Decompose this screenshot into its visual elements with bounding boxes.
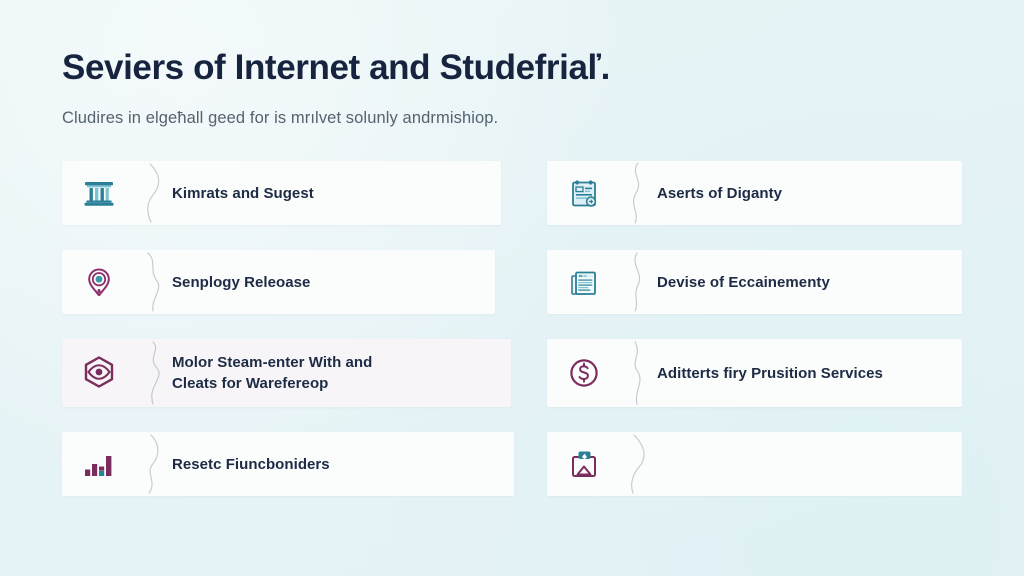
service-card-label-line: Devise of Eccainementy (657, 272, 830, 293)
service-card-label-line: Kimrats and Sugest (172, 183, 314, 204)
service-card-label-line: Senplogy Releoase (172, 272, 310, 293)
service-card-label-line: Aditterts firy Prusition Services (657, 363, 883, 384)
squiggle-divider-icon (136, 161, 172, 225)
service-card-label: Aditterts firy Prusition Services (657, 363, 899, 384)
squiggle-divider-icon (621, 161, 657, 225)
page-subtitle: Cludires in elgeħall geed for is mrılvet… (62, 109, 962, 128)
service-card-label-line: Molor Steam-enter With and (172, 352, 372, 373)
bank-building-icon (62, 161, 136, 225)
service-card-label: Molor Steam-enter With and Cleats for Wa… (172, 352, 388, 395)
service-card-aserts-of-diganty[interactable]: Aserts of Diganty (547, 161, 962, 225)
service-card-label: Senplogy Releoase (172, 272, 326, 293)
squiggle-divider-icon (136, 250, 172, 314)
service-card-aditterts-firy-prusition-services[interactable]: Aditterts firy Prusition Services (547, 339, 962, 407)
service-card-devise-of-eccainementy[interactable]: Devise of Eccainementy (547, 250, 962, 314)
location-pin-circle-icon (62, 250, 136, 314)
document-form-icon (547, 161, 621, 225)
service-card-label: Kimrats and Sugest (172, 183, 330, 204)
service-card-label-line: Resetc Fiuncboniders (172, 454, 330, 475)
squiggle-divider-icon (621, 432, 657, 496)
hexagon-eye-icon (62, 339, 136, 407)
service-card-label: Resetc Fiuncboniders (172, 454, 346, 475)
service-card-senplogy-releoase[interactable]: Senplogy Releoase (62, 250, 495, 314)
service-card-label-line: Cleats for Warefereop (172, 373, 372, 394)
service-card-label: Devise of Eccainementy (657, 272, 846, 293)
service-card-label: Aserts of Diganty (657, 183, 798, 204)
squiggle-divider-icon (136, 432, 172, 496)
stacked-documents-icon (547, 250, 621, 314)
squiggle-divider-icon (136, 339, 172, 407)
service-card-molor-steam-enter[interactable]: Molor Steam-enter With and Cleats for Wa… (62, 339, 511, 407)
squiggle-divider-icon (621, 339, 657, 407)
service-card-label-line: Aserts of Diganty (657, 183, 782, 204)
dollar-circle-icon (547, 339, 621, 407)
service-card-label (657, 464, 673, 465)
page-content: Seviers of Internet and Studefriaľ. Clud… (0, 0, 1024, 496)
service-card-inbox-tray[interactable] (547, 432, 962, 496)
service-card-resetc-fiuncboniders[interactable]: Resetc Fiuncboniders (62, 432, 514, 496)
inbox-tray-icon (547, 432, 621, 496)
squiggle-divider-icon (621, 250, 657, 314)
page-title: Seviers of Internet and Studefriaľ. (62, 48, 962, 88)
service-card-kimrats-and-sugest[interactable]: Kimrats and Sugest (62, 161, 501, 225)
service-cards-grid: Kimrats and Sugest (62, 161, 962, 496)
bar-chart-icon (62, 432, 136, 496)
